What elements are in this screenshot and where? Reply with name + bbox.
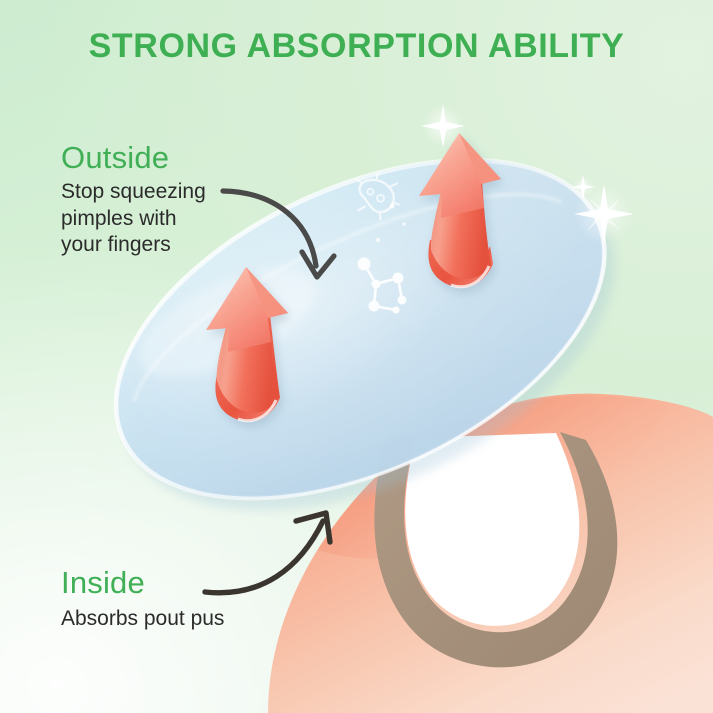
page-title: STRONG ABSORPTION ABILITY — [0, 27, 713, 66]
callout-outside-heading: Outside — [61, 141, 206, 174]
callout-inside-body: Absorbs pout pus — [61, 606, 224, 632]
callout-outside-body: Stop squeezing pimples with your fingers — [61, 179, 206, 258]
infographic-poster: STRONG ABSORPTION ABILITY Outside Stop s… — [0, 0, 713, 713]
callout-outside: Outside Stop squeezing pimples with your… — [61, 141, 206, 259]
callout-inside-heading: Inside — [61, 566, 224, 599]
pointer-arrow-outside — [223, 191, 334, 277]
callout-inside: Inside Absorbs pout pus — [61, 566, 224, 633]
